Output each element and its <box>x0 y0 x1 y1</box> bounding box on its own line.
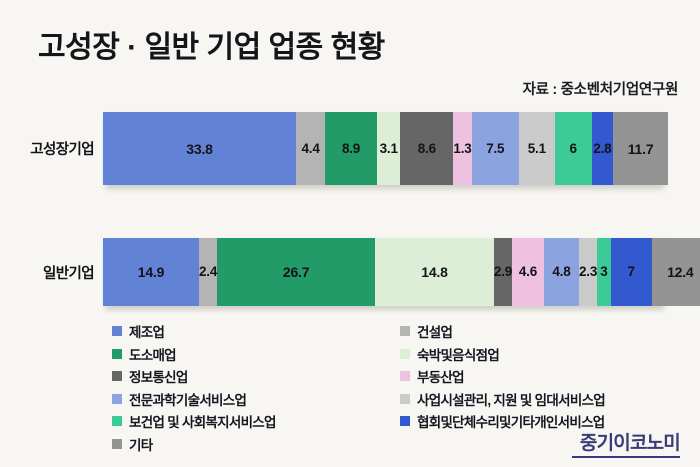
infographic-canvas: 고성장 · 일반 기업 업종 현황 자료 : 중소벤처기업연구원 고성장기업 3… <box>0 0 700 467</box>
legend-item[interactable]: 숙박및음식점업 <box>400 343 605 366</box>
source-credit: 자료 : 중소벤처기업연구원 <box>523 78 678 99</box>
legend-item[interactable]: 도소매업 <box>112 343 276 366</box>
bar-segment-value: 7 <box>628 265 635 279</box>
legend-color-swatch-icon <box>400 416 410 426</box>
legend-column-right: 건설업숙박및음식점업부동산업사업시설관리, 지원 및 임대서비스업협회및단체수리… <box>400 320 605 433</box>
bar-segment: 6 <box>555 112 592 185</box>
bar-segment-value: 2.8 <box>593 142 611 156</box>
stacked-bar: 14.92.426.714.82.94.64.82.33712.4 <box>103 238 661 306</box>
bar-segment-value: 8.6 <box>418 142 436 156</box>
bar-segment: 12.4 <box>652 238 700 306</box>
stacked-bar-chart: 고성장기업 33.84.48.93.18.61.37.55.162.811.7 … <box>0 100 700 315</box>
bar-segment: 14.9 <box>103 238 199 306</box>
bar-row: 고성장기업 33.84.48.93.18.61.37.55.162.811.7 <box>0 112 700 185</box>
legend-column-left: 제조업도소매업정보통신업전문과학기술서비스업보건업 및 사회복지서비스업기타 <box>112 320 276 455</box>
legend-item-label: 도소매업 <box>129 344 176 364</box>
legend-item-label: 숙박및음식점업 <box>417 344 499 364</box>
legend-color-swatch-icon <box>400 326 410 336</box>
bar-segment: 2.8 <box>592 112 614 185</box>
legend-item-label: 전문과학기술서비스업 <box>129 389 246 409</box>
bar-segment-value: 11.7 <box>628 142 654 156</box>
bar-segment-value: 14.9 <box>138 265 164 279</box>
bar-segment: 11.7 <box>613 112 668 185</box>
legend-item-label: 제조업 <box>129 321 164 341</box>
bar-segment-value: 7.5 <box>486 142 504 156</box>
bar-segment: 26.7 <box>217 238 375 306</box>
legend-item[interactable]: 부동산업 <box>400 365 605 388</box>
legend-item-label: 사업시설관리, 지원 및 임대서비스업 <box>417 389 605 409</box>
bar-segment-value: 1.3 <box>453 142 471 156</box>
bar-segment: 2.3 <box>579 238 597 306</box>
bar-segment-value: 4.6 <box>519 265 537 279</box>
bar-segment: 4.4 <box>296 112 325 185</box>
legend-item[interactable]: 제조업 <box>112 320 276 343</box>
bar-segment-value: 33.8 <box>186 142 212 156</box>
bar-segment: 3 <box>597 238 610 306</box>
legend-item-label: 건설업 <box>417 321 452 341</box>
legend-color-swatch-icon <box>112 416 122 426</box>
legend-item[interactable]: 협회및단체수리및기타개인서비스업 <box>400 410 605 433</box>
legend-color-swatch-icon <box>400 349 410 359</box>
bar-segment-value: 6 <box>569 142 576 156</box>
bar-segment-value: 3 <box>600 265 607 279</box>
legend-item-label: 협회및단체수리및기타개인서비스업 <box>417 411 605 431</box>
legend-item-label: 정보통신업 <box>129 366 188 386</box>
bar-segment-value: 4.8 <box>552 265 570 279</box>
bar-segment-value: 8.9 <box>342 142 360 156</box>
legend-item[interactable]: 건설업 <box>400 320 605 343</box>
legend-item-label: 기타 <box>129 434 152 454</box>
bar-segment: 8.9 <box>325 112 377 185</box>
legend-color-swatch-icon <box>400 371 410 381</box>
bar-segment-value: 4.4 <box>301 142 319 156</box>
legend-item-label: 보건업 및 사회복지서비스업 <box>129 411 276 431</box>
bar-segment: 4.6 <box>512 238 544 306</box>
bar-segment: 33.8 <box>103 112 296 185</box>
bar-segment-value: 12.4 <box>667 265 693 279</box>
legend-item[interactable]: 전문과학기술서비스업 <box>112 388 276 411</box>
legend-item[interactable]: 기타 <box>112 433 276 456</box>
bar-segment: 3.1 <box>377 112 400 185</box>
bar-segment-value: 2.3 <box>579 265 597 279</box>
bar-segment: 4.8 <box>544 238 579 306</box>
legend-color-swatch-icon <box>400 394 410 404</box>
legend-color-swatch-icon <box>112 394 122 404</box>
bar-segment: 5.1 <box>519 112 555 185</box>
bar-category-label: 일반기업 <box>0 262 103 283</box>
bar-segment: 14.8 <box>375 238 494 306</box>
bar-segment-value: 5.1 <box>528 142 546 156</box>
bar-segment-value: 14.8 <box>421 265 447 279</box>
bar-row: 일반기업 14.92.426.714.82.94.64.82.33712.4 <box>0 238 700 306</box>
bar-segment-value: 2.9 <box>494 265 512 279</box>
legend-color-swatch-icon <box>112 439 122 449</box>
bar-segment-value: 26.7 <box>283 265 309 279</box>
legend-color-swatch-icon <box>112 371 122 381</box>
legend-item[interactable]: 사업시설관리, 지원 및 임대서비스업 <box>400 388 605 411</box>
legend-item-label: 부동산업 <box>417 366 464 386</box>
bar-segment: 1.3 <box>453 112 471 185</box>
legend-item[interactable]: 보건업 및 사회복지서비스업 <box>112 410 276 433</box>
bar-segment-value: 3.1 <box>380 142 398 156</box>
bar-category-label: 고성장기업 <box>0 138 103 159</box>
bar-segment: 7 <box>611 238 652 306</box>
bar-segment: 2.4 <box>199 238 217 306</box>
page-title: 고성장 · 일반 기업 업종 현황 <box>38 22 385 66</box>
bar-segment-value: 2.4 <box>199 265 217 279</box>
bar-segment: 2.9 <box>494 238 512 306</box>
bar-segment: 8.6 <box>400 112 453 185</box>
legend-color-swatch-icon <box>112 326 122 336</box>
stacked-bar: 33.84.48.93.18.61.37.55.162.811.7 <box>103 112 661 185</box>
bar-segment: 7.5 <box>472 112 519 185</box>
legend-color-swatch-icon <box>112 349 122 359</box>
legend-item[interactable]: 정보통신업 <box>112 365 276 388</box>
publisher-logo: 중기이코노미 <box>580 428 680 455</box>
publisher-logo-underline <box>572 456 680 458</box>
